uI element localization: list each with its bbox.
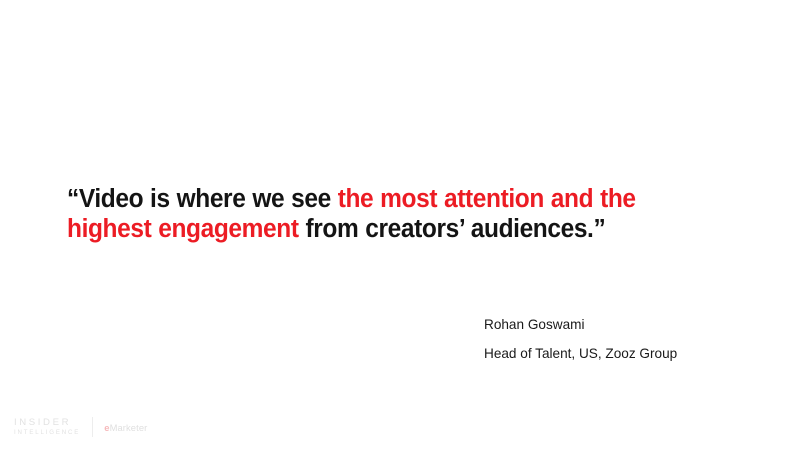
quote-segment-plain-2: from creators’ audiences. [299, 215, 594, 243]
emarketer-logo: eMarketer [104, 422, 147, 433]
insider-intelligence-logo-bottom: INTELLIGENCE [14, 430, 80, 436]
quote-open-mark: “ [67, 185, 79, 213]
attribution-name: Rohan Goswami [484, 310, 784, 339]
emarketer-logo-wordmark: Marketer [110, 422, 148, 433]
quote-text: “Video is where we see the most attentio… [67, 184, 689, 244]
pull-quote: “Video is where we see the most attentio… [67, 184, 715, 244]
quote-segment-plain-1: Video is where we see [79, 185, 338, 213]
attribution-title: Head of Talent, US, Zooz Group [484, 339, 784, 368]
insider-intelligence-logo: INSIDER INTELLIGENCE [14, 418, 80, 436]
logo-divider [92, 417, 93, 437]
quote-close-mark: ” [593, 215, 605, 243]
insider-intelligence-logo-top: INSIDER [14, 418, 80, 428]
quote-attribution: Rohan Goswami Head of Talent, US, Zooz G… [484, 310, 784, 368]
slide-canvas: “Video is where we see the most attentio… [0, 0, 800, 450]
footer-logo-lockup: INSIDER INTELLIGENCE eMarketer [14, 416, 147, 438]
